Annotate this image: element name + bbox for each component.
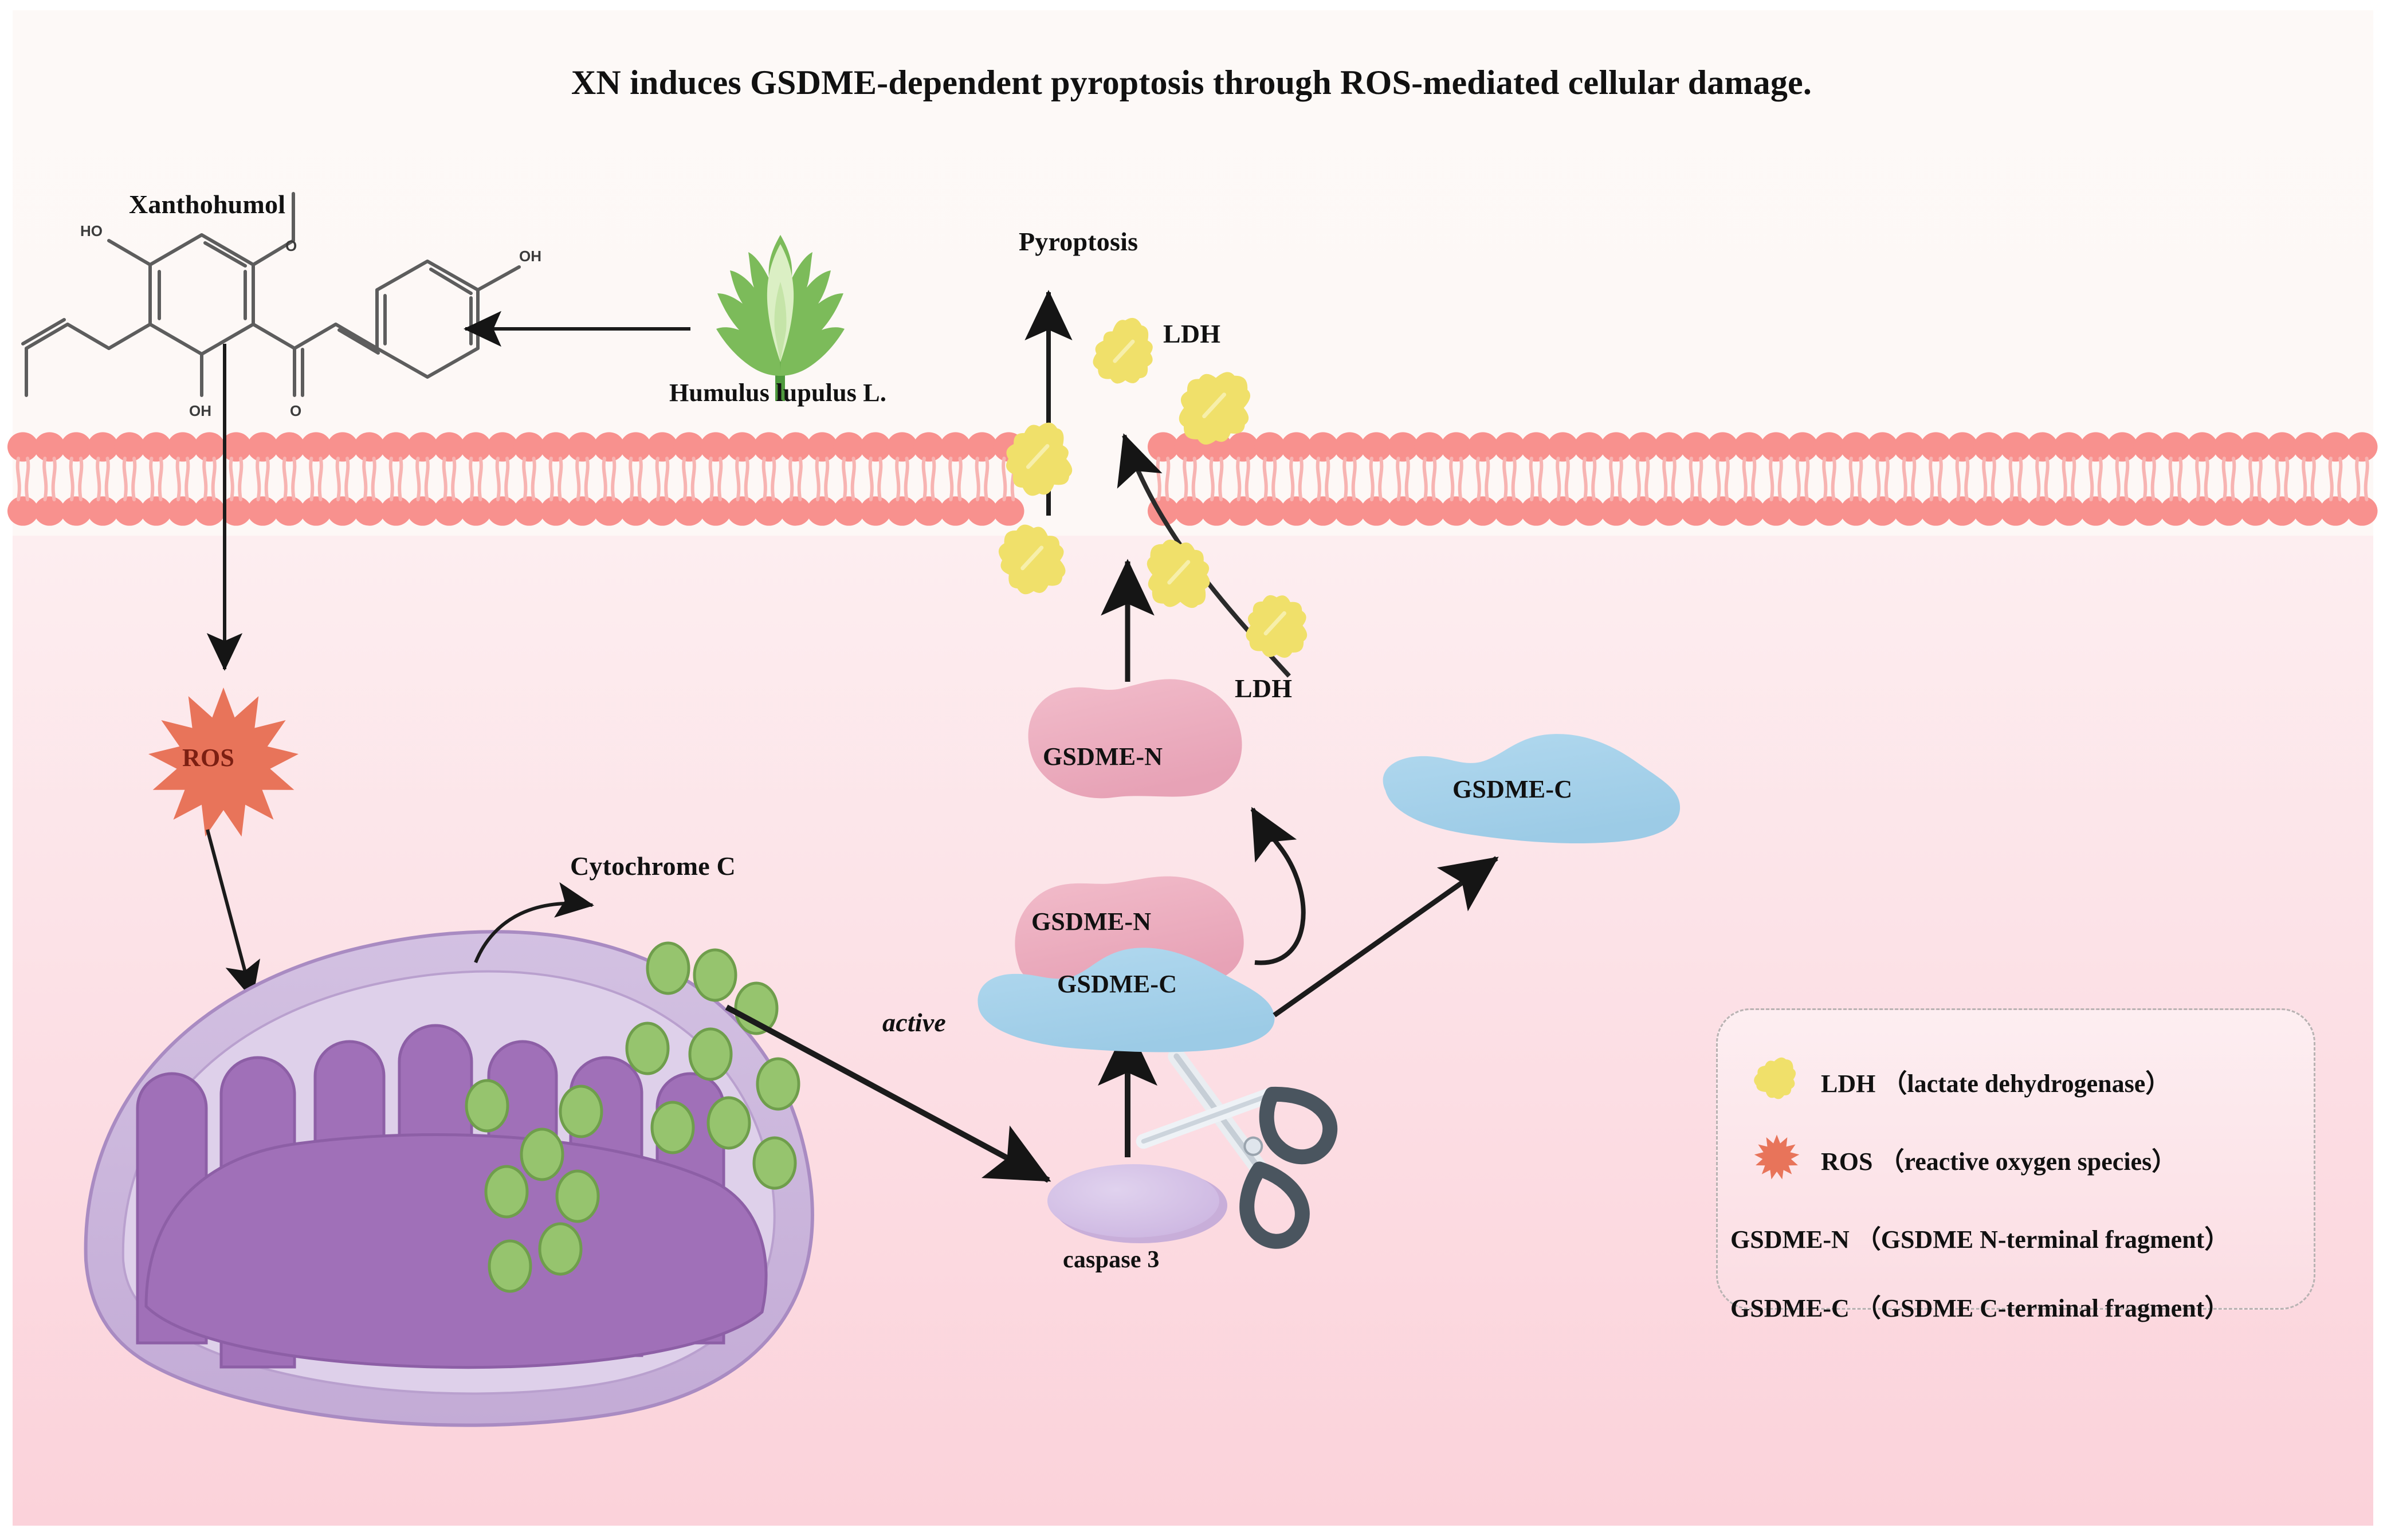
label-gsdme-c-complex: GSDME-C <box>1057 969 1177 999</box>
legend-row-ros: ROS （reactive oxygen species） <box>1821 1141 2177 1177</box>
atom-label-oh: OH <box>189 402 211 419</box>
cytochrome-c-particle <box>489 1241 531 1291</box>
legend-row-ldh: LDH （lactate dehydrogenase） <box>1821 1063 2170 1099</box>
cytochrome-c-particle <box>540 1224 581 1274</box>
cytochrome-c-particle-released <box>757 1059 799 1109</box>
legend-box: LDH （lactate dehydrogenase） ROS （reactiv… <box>1716 1008 2315 1310</box>
cytochrome-c-particle <box>560 1086 602 1137</box>
label-active: active <box>882 1007 946 1038</box>
label-pyroptosis: Pyroptosis <box>1019 226 1138 257</box>
cytochrome-c-particle-released <box>647 943 689 993</box>
ros-burst-icon <box>1752 1133 1801 1182</box>
atom-label-o-methyl: O <box>285 237 297 254</box>
label-ldh-intracellular: LDH <box>1235 673 1292 704</box>
atom-label-oh-2: OH <box>519 247 541 265</box>
label-caspase3: caspase 3 <box>1063 1246 1160 1274</box>
legend-row-gsdme-c: GSDME-C （GSDME C-terminal fragment） <box>1730 1287 2229 1324</box>
label-gsdme-n-free: GSDME-N <box>1043 742 1163 771</box>
legend-row-gsdme-n: GSDME-N （GSDME N-terminal fragment） <box>1730 1219 2229 1255</box>
atom-label-o-carbonyl: O <box>290 402 301 419</box>
label-gsdme-c-free: GSDME-C <box>1452 775 1572 804</box>
cytochrome-c-particle <box>466 1081 508 1131</box>
cytochrome-c-particle-released <box>754 1138 795 1188</box>
cytochrome-c-particle-released <box>627 1023 668 1074</box>
gsdme-n-free-shape <box>1028 679 1242 798</box>
label-ldh-extracellular: LDH <box>1163 319 1220 349</box>
label-humulus-lupulus: Humulus lupulus L. <box>669 378 886 407</box>
page-title: XN induces GSDME-dependent pyroptosis th… <box>0 63 2383 103</box>
label-gsdme-n-complex: GSDME-N <box>1031 907 1151 936</box>
label-xanthohumol: Xanthohumol <box>129 189 285 219</box>
cytochrome-c-particle <box>557 1171 598 1221</box>
ldh-particle <box>1246 595 1308 658</box>
cytochrome-c-particle <box>521 1129 563 1180</box>
label-cytochrome-c: Cytochrome C <box>570 851 736 881</box>
ldh-blob-icon <box>1752 1055 1801 1104</box>
label-ros: ROS <box>182 743 234 772</box>
diagram-canvas: HO O OH O OH <box>0 0 2383 1540</box>
cytochrome-c-particle-released <box>652 1102 693 1153</box>
cytochrome-c-particle-released <box>694 950 736 1000</box>
cytochrome-c-particle-released <box>690 1029 731 1079</box>
cytochrome-c-particle <box>486 1166 527 1217</box>
atom-label-ho: HO <box>80 222 103 239</box>
cytochrome-c-particle-released <box>708 1098 749 1148</box>
